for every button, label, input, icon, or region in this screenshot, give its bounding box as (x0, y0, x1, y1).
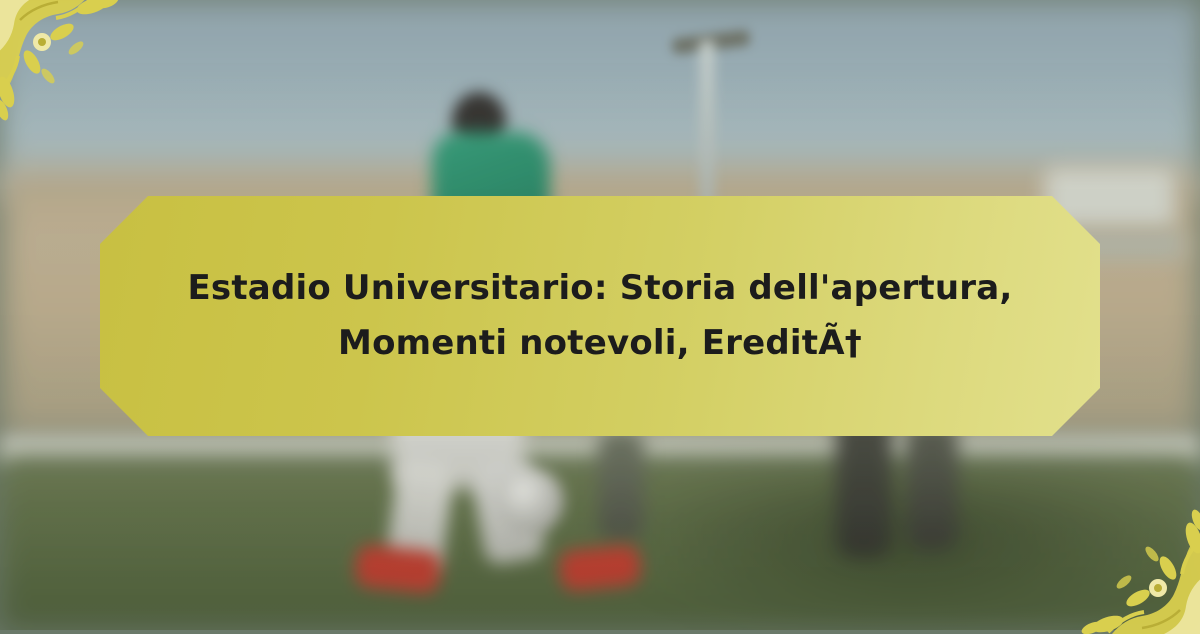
title-banner: Estadio Universitario: Storia dell'apert… (100, 196, 1100, 436)
page-title: Estadio Universitario: Storia dell'apert… (185, 261, 1015, 371)
